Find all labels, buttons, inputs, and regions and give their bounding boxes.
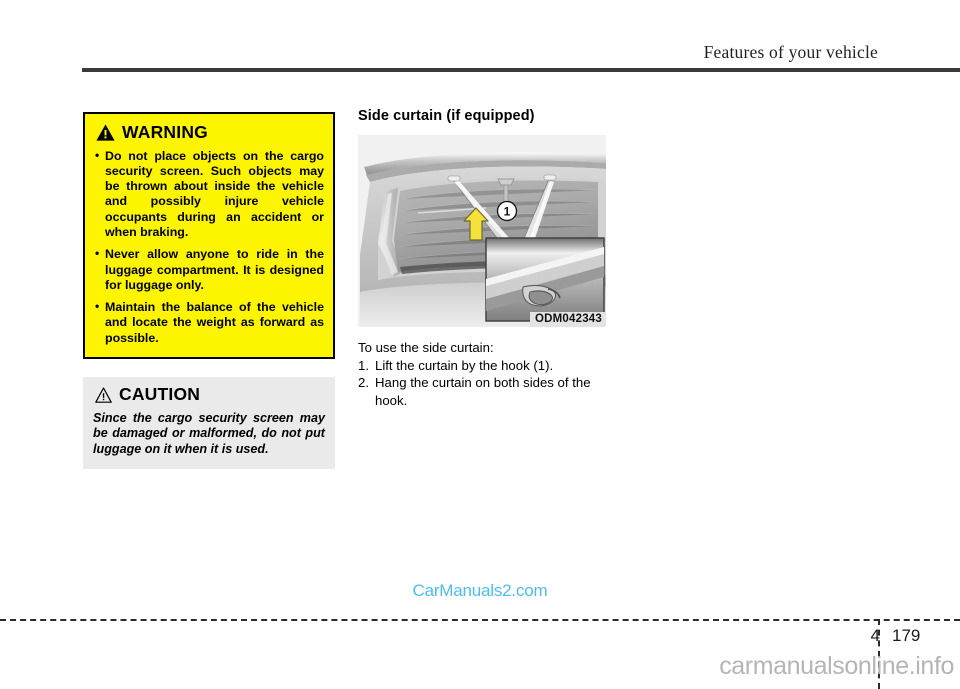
instruction-step: 2. Hang the curtain on both sides of the… [358, 374, 613, 409]
watermark-carmanualsonline: carmanualsonline.info [719, 652, 954, 681]
caution-body-text: Since the cargo security screen may be d… [93, 411, 325, 458]
warning-heading: WARNING [96, 124, 324, 142]
figure-callout-1: 1 [504, 205, 511, 219]
section-title: Side curtain (if equipped) [358, 108, 613, 124]
caution-box: CAUTION Since the cargo security screen … [83, 377, 335, 469]
warning-heading-label: WARNING [122, 124, 208, 142]
warning-triangle-icon [96, 124, 115, 141]
warning-bullet-list: Do not place objects on the cargo securi… [94, 149, 324, 347]
step-text: Lift the curtain by the hook (1). [375, 358, 553, 373]
figure-inset-detail [486, 238, 604, 321]
warning-bullet: Do not place objects on the cargo securi… [94, 149, 324, 241]
step-number: 2. [358, 374, 369, 392]
instruction-steps: 1. Lift the curtain by the hook (1). 2. … [358, 357, 613, 410]
footer-dashed-rule [0, 619, 960, 621]
caution-triangle-icon [95, 387, 112, 403]
step-text: Hang the curtain on both sides of the ho… [375, 375, 591, 408]
side-curtain-figure: 1 ODM042343 [358, 135, 606, 327]
caution-heading-label: CAUTION [119, 386, 200, 404]
side-curtain-illustration: 1 [358, 135, 606, 327]
chapter-number: 4 [842, 626, 880, 646]
caution-heading: CAUTION [95, 386, 325, 404]
step-number: 1. [358, 357, 369, 375]
page-number-value: 179 [892, 626, 920, 646]
warning-bullet: Maintain the balance of the vehicle and … [94, 300, 324, 346]
instructions-intro: To use the side curtain: [358, 339, 613, 357]
warning-bullet: Never allow anyone to ride in the luggag… [94, 247, 324, 293]
page-number: 4 179 [842, 626, 960, 646]
instructions-block: To use the side curtain: 1. Lift the cur… [358, 339, 613, 409]
watermark-carmanuals2: CarManuals2.com [0, 581, 960, 601]
warning-box: WARNING Do not place objects on the carg… [83, 112, 335, 359]
instruction-step: 1. Lift the curtain by the hook (1). [358, 357, 613, 375]
left-column: WARNING Do not place objects on the carg… [83, 112, 335, 469]
right-column: Side curtain (if equipped) [358, 108, 613, 409]
figure-caption: ODM042343 [530, 312, 606, 327]
